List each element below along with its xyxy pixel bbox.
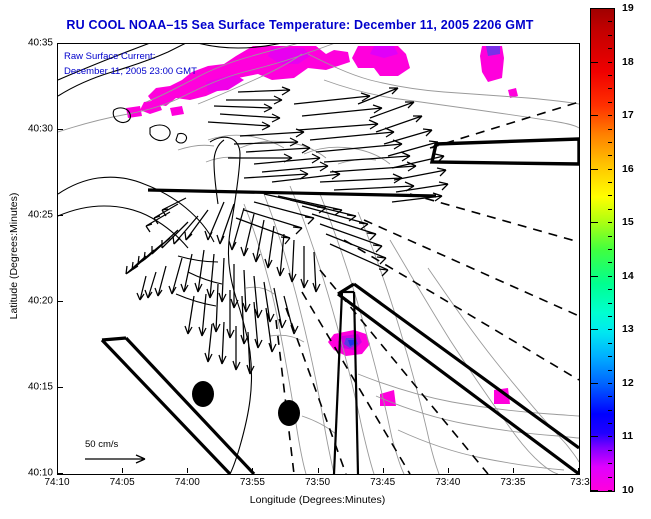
y-tick-mark [58, 301, 63, 302]
colorbar-tick-label: 17 [622, 109, 634, 121]
x-tick-label: 73:3 [570, 477, 589, 488]
colorbar-minor-tick [608, 463, 612, 464]
x-tick-label: 73:35 [500, 477, 525, 488]
colorbar-minor-tick [608, 262, 612, 263]
colorbar-tick-mark [590, 8, 598, 9]
colorbar-minor-tick [608, 276, 612, 277]
navigation-channel [334, 292, 358, 474]
x-tick-label: 73:40 [435, 477, 460, 488]
colorbar-minor-tick [608, 396, 612, 397]
colorbar-tick-mark [590, 222, 598, 223]
radial-dashed-lines [276, 102, 579, 474]
map-graphics [58, 44, 579, 474]
colorbar-minor-tick [608, 370, 612, 371]
y-axis-title: Latitude (Degrees:Minutes) [8, 156, 20, 356]
colorbar-minor-tick [608, 21, 612, 22]
y-tick-label: 40:30 [28, 124, 53, 135]
coastline [58, 44, 478, 474]
colorbar-minor-tick [608, 155, 612, 156]
colorbar-minor-tick [608, 490, 612, 491]
colorbar-minor-tick [608, 436, 612, 437]
colorbar-minor-tick [608, 62, 612, 63]
colorbar-minor-tick [608, 209, 612, 210]
station-marker [192, 381, 214, 407]
colorbar-minor-tick [608, 356, 612, 357]
colorbar-tick-label: 14 [622, 270, 634, 282]
colorbar-minor-tick [608, 102, 612, 103]
colorbar-tick-mark [590, 169, 598, 170]
colorbar-minor-tick [608, 88, 612, 89]
y-tick-label: 40:25 [28, 210, 53, 221]
colorbar-minor-tick [608, 423, 612, 424]
colorbar-minor-tick [608, 75, 612, 76]
y-tick-mark [58, 215, 63, 216]
velocity-scale-label: 50 cm/s [57, 439, 167, 450]
colorbar-minor-tick [608, 35, 612, 36]
y-tick-mark [58, 129, 63, 130]
y-tick-mark [58, 43, 63, 44]
x-tick-label: 74:05 [110, 477, 135, 488]
colorbar-tick-mark [590, 490, 598, 491]
colorbar-minor-tick [608, 383, 612, 384]
annotation-line-1: Raw Surface Current: [64, 49, 197, 64]
y-tick-label: 40:15 [28, 382, 53, 393]
y-tick-label: 40:10 [28, 468, 53, 479]
y-tick-mark [58, 473, 63, 474]
y-tick-label: 40:35 [28, 38, 53, 49]
x-axis-title: Longitude (Degrees:Minutes) [57, 494, 578, 506]
colorbar-tick-label: 18 [622, 56, 634, 68]
y-tick-label: 40:20 [28, 296, 53, 307]
colorbar-tick-mark [590, 115, 598, 116]
colorbar-tick-mark [590, 276, 598, 277]
x-tick-mark [383, 468, 384, 473]
x-tick-mark [578, 468, 579, 473]
colorbar-tick-mark [590, 436, 598, 437]
annotation-line-2: December 11, 2005 23:00 GMT [64, 64, 197, 79]
colorbar-tick-label: 12 [622, 377, 634, 389]
colorbar-tick-mark [590, 329, 598, 330]
colorbar-minor-tick [608, 329, 612, 330]
x-tick-mark [252, 468, 253, 473]
colorbar-tick-mark [590, 62, 598, 63]
x-tick-mark [318, 468, 319, 473]
colorbar-minor-tick [608, 316, 612, 317]
colorbar-minor-tick [608, 195, 612, 196]
colorbar-minor-tick [608, 303, 612, 304]
colorbar-minor-tick [608, 236, 612, 237]
arrow-right-icon [57, 450, 167, 468]
x-tick-label: 73:45 [370, 477, 395, 488]
colorbar-minor-tick [608, 142, 612, 143]
colorbar-minor-tick [608, 249, 612, 250]
colorbar-minor-tick [608, 169, 612, 170]
surface-current-vectors [126, 87, 448, 374]
x-tick-mark [448, 468, 449, 473]
colorbar-minor-tick [608, 222, 612, 223]
x-tick-mark [122, 468, 123, 473]
colorbar-tick-label: 13 [622, 323, 634, 335]
temperature-colorbar [590, 8, 615, 492]
y-tick-mark [58, 387, 63, 388]
colorbar-minor-tick [608, 182, 612, 183]
map-plot-area[interactable]: Raw Surface Current: December 11, 2005 2… [57, 43, 580, 475]
colorbar-tick-mark [590, 383, 598, 384]
colorbar-minor-tick [608, 289, 612, 290]
colorbar-minor-tick [608, 343, 612, 344]
colorbar-minor-tick [608, 48, 612, 49]
figure-title: RU COOL NOAA–15 Sea Surface Temperature:… [0, 18, 600, 32]
colorbar-minor-tick [608, 450, 612, 451]
colorbar-minor-tick [608, 410, 612, 411]
x-tick-label: 73:50 [305, 477, 330, 488]
x-tick-label: 74:00 [175, 477, 200, 488]
colorbar-minor-tick [608, 129, 612, 130]
x-tick-label: 74:10 [44, 477, 69, 488]
colorbar-minor-tick [608, 8, 612, 9]
colorbar-tick-label: 11 [622, 430, 633, 442]
x-tick-mark [187, 468, 188, 473]
colorbar-tick-label: 10 [622, 484, 634, 496]
sst-map-figure: RU COOL NOAA–15 Sea Surface Temperature:… [0, 0, 651, 519]
shipping-lane-lower [338, 284, 579, 474]
colorbar-tick-label: 19 [622, 2, 634, 14]
x-tick-label: 73:55 [240, 477, 265, 488]
x-tick-mark [513, 468, 514, 473]
colorbar-minor-tick [608, 115, 612, 116]
colorbar-minor-tick [608, 477, 612, 478]
current-annotation: Raw Surface Current: December 11, 2005 2… [64, 49, 197, 79]
colorbar-tick-label: 16 [622, 163, 634, 175]
station-marker [278, 400, 300, 426]
velocity-scale-key: 50 cm/s [57, 439, 167, 468]
colorbar-tick-label: 15 [622, 216, 634, 228]
